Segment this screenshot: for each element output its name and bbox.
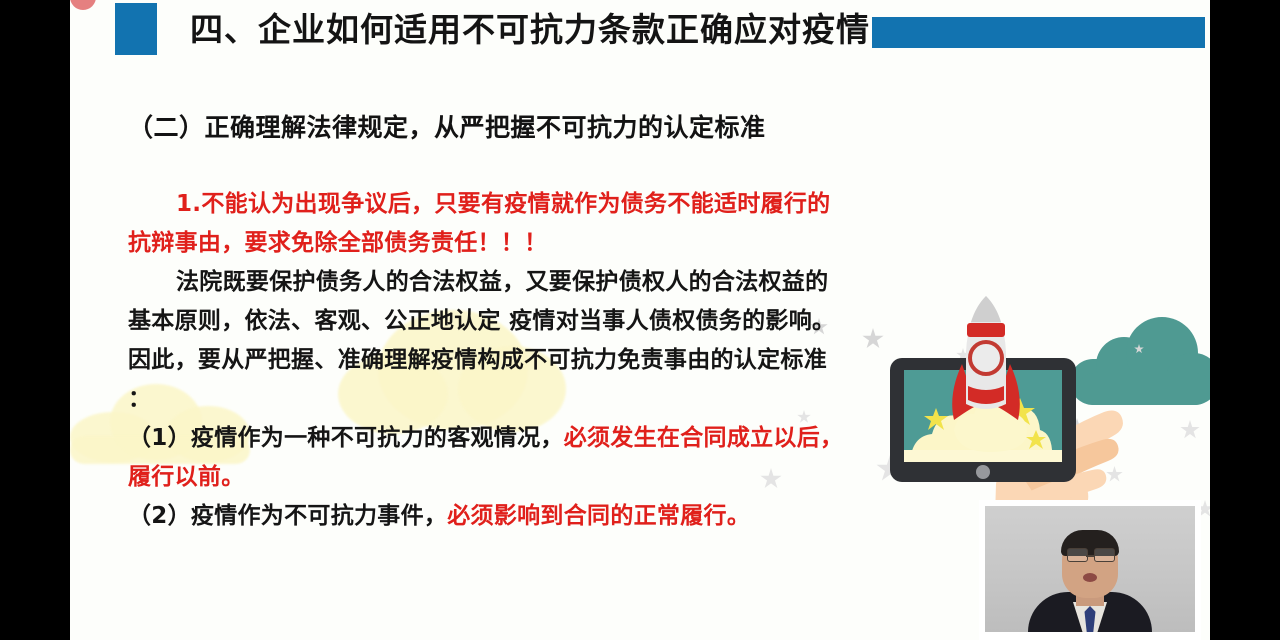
body-item-1-continued: 履行以前。: [128, 458, 898, 497]
speaker-video-frame: [985, 506, 1195, 632]
page-title: 四、企业如何适用不可抗力条款正确应对疫情: [190, 8, 870, 52]
slide-body: 1.不能认为出现争议后，只要有疫情就作为债务不能适时履行的 抗辩事由，要求免除全…: [128, 185, 898, 536]
letterbox-right: [1210, 0, 1280, 640]
glasses-bridge: [1086, 555, 1094, 557]
speaker-video-overlay[interactable]: [979, 500, 1201, 640]
item2-prefix: （2）疫情作为不可抗力事件，: [128, 503, 447, 529]
item2-emphasis: 必须影响到合同的正常履行。: [447, 503, 750, 529]
title-accent-square: [115, 3, 157, 55]
title-accent-bar: [872, 17, 1205, 48]
glasses-icon: [1094, 548, 1115, 562]
body-line: ：: [128, 380, 898, 419]
section-subtitle: （二）正确理解法律规定，从严把握不可抗力的认定标准: [128, 108, 766, 144]
screen-capture: 四、企业如何适用不可抗力条款正确应对疫情 （二）正确理解法律规定，从严把握不可抗…: [0, 0, 1280, 640]
body-line: 因此，要从严把握、准确理解疫情构成不可抗力免责事由的认定标准: [128, 341, 898, 380]
speaker-mouth: [1083, 573, 1097, 582]
body-line: 1.不能认为出现争议后，只要有疫情就作为债务不能适时履行的: [128, 185, 898, 224]
body-item-1: （1）疫情作为一种不可抗力的客观情况，必须发生在合同成立以后，: [128, 419, 898, 458]
glasses-icon: [1067, 548, 1088, 562]
body-line: 抗辩事由，要求免除全部债务责任！！！: [128, 224, 898, 263]
body-line: 基本原则，依法、客观、公正地认定 疫情对当事人债权债务的影响。: [128, 302, 898, 341]
item1-emphasis: 必须发生在合同成立以后，: [564, 425, 844, 451]
item1-prefix: （1）疫情作为一种不可抗力的客观情况，: [128, 425, 564, 451]
body-item-2: （2）疫情作为不可抗力事件，必须影响到合同的正常履行。: [128, 497, 898, 536]
body-line: 法院既要保护债务人的合法权益，又要保护债权人的合法权益的: [128, 263, 898, 302]
slide-title-row: 四、企业如何适用不可抗力条款正确应对疫情: [70, 0, 1210, 66]
letterbox-left: [0, 0, 70, 640]
